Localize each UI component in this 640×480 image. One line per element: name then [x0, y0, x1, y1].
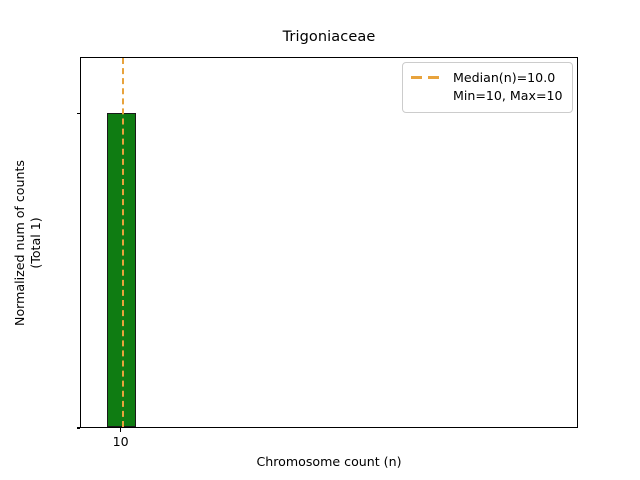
y-tick-mark: [77, 427, 81, 428]
y-axis-label-line1: Normalized num of counts: [12, 160, 28, 326]
legend-label-median: Median(n)=10.0: [453, 69, 563, 87]
x-tick-mark: [120, 428, 121, 432]
chart-legend: Median(n)=10.0 Min=10, Max=10: [402, 62, 573, 113]
y-axis-label-wrapper: Normalized num of counts (Total 1): [0, 57, 56, 428]
bars-layer: [81, 58, 577, 427]
legend-item: Median(n)=10.0 Min=10, Max=10: [411, 69, 564, 105]
figure-canvas: Trigoniaceae 0110 Chromosome count (n) N…: [0, 0, 640, 480]
x-tick-label: 10: [81, 434, 161, 449]
legend-item-label: Median(n)=10.0 Min=10, Max=10: [453, 69, 563, 105]
y-tick-mark: [77, 113, 81, 114]
legend-label-minmax: Min=10, Max=10: [453, 87, 563, 105]
dashed-line-icon: [411, 70, 444, 85]
y-axis-label: Normalized num of counts (Total 1): [12, 160, 44, 326]
chart-title: Trigoniaceae: [80, 29, 578, 45]
y-axis-label-line2: (Total 1): [28, 160, 44, 326]
x-axis-label: Chromosome count (n): [80, 454, 578, 469]
median-line: [122, 58, 124, 427]
